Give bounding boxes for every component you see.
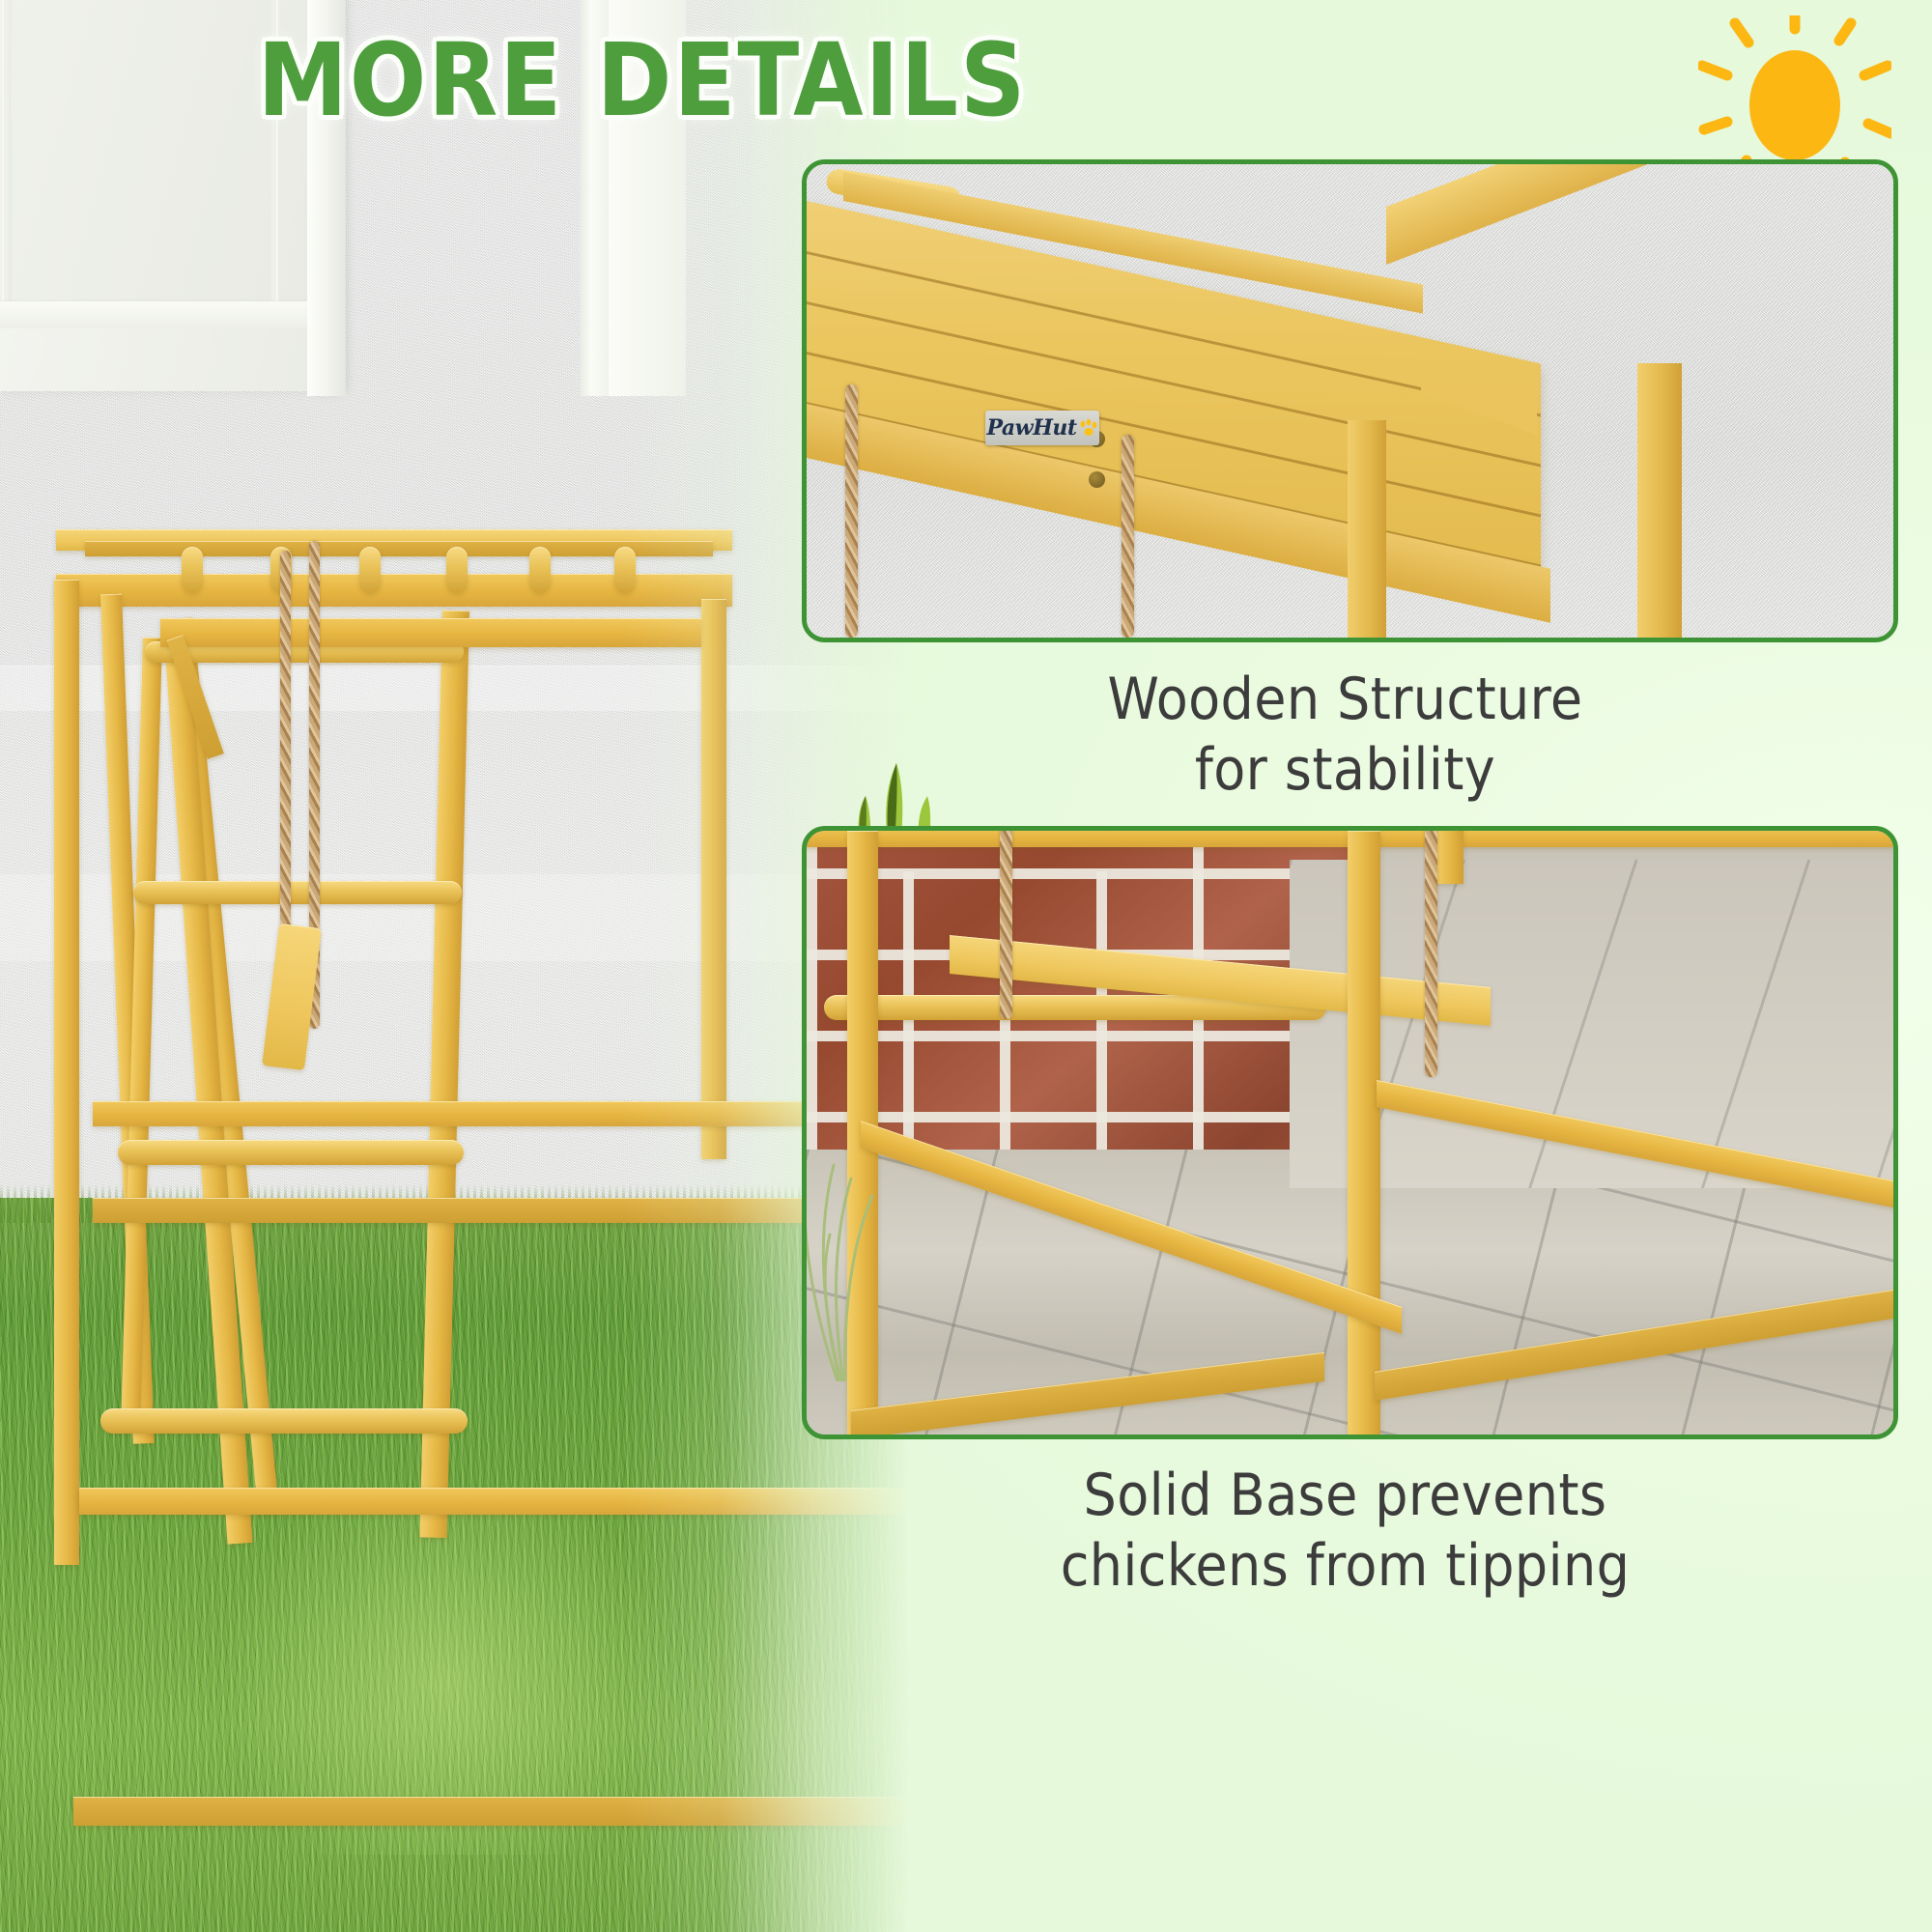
page-title: MORE DETAILS [0, 21, 1285, 139]
caption-line-2: for stability [802, 735, 1889, 806]
ladder-rung [100, 1408, 468, 1434]
brand-label: PawHut [986, 415, 1076, 440]
frame-leg [54, 580, 79, 1565]
frame-leg-right [701, 599, 726, 1159]
caption-line-2: chickens from tipping [802, 1531, 1889, 1602]
perch-rod [529, 547, 551, 593]
corner-gusset [1421, 386, 1537, 440]
base-rail-foot [73, 1797, 933, 1826]
hanging-rope [1000, 826, 1012, 1019]
feature-photo-wooden-structure: PawHut [802, 159, 1898, 642]
brand-plate: PawHut [985, 411, 1099, 445]
perch-rod [182, 547, 203, 593]
table-leg [1348, 420, 1386, 638]
caption-line-1: Solid Base prevents [802, 1461, 1889, 1531]
feature-caption-solid-base: Solid Base prevents chickens from tippin… [802, 1461, 1889, 1602]
frame-cross-rail [160, 618, 701, 647]
ladder-rung [118, 1140, 464, 1165]
frame-post-mid [1348, 831, 1380, 1439]
caption-line-1: Wooden Structure [802, 665, 1889, 735]
perch-rod [359, 547, 381, 593]
ornamental-grass-icon [802, 1072, 917, 1381]
base-rail-lower [93, 1198, 923, 1223]
perch-rod [446, 547, 468, 593]
door-rail [0, 301, 309, 328]
door-lower-panel [0, 328, 309, 391]
ladder-rung [133, 881, 462, 904]
hanging-rope [1425, 826, 1437, 1077]
perch-rod [614, 547, 636, 593]
paw-icon [1079, 419, 1098, 437]
table-leg [1637, 363, 1682, 638]
product-detail-panel: MORE DETAILS [0, 0, 1932, 1932]
frame-post-right [1435, 826, 1463, 884]
hanging-rope [845, 384, 858, 638]
feature-photo-solid-base [802, 826, 1898, 1439]
base-rail-upper [93, 1101, 923, 1126]
screw-head-icon [1089, 471, 1105, 488]
hanging-rope [1122, 435, 1134, 638]
feature-caption-wooden-structure: Wooden Structure for stability [802, 665, 1889, 806]
